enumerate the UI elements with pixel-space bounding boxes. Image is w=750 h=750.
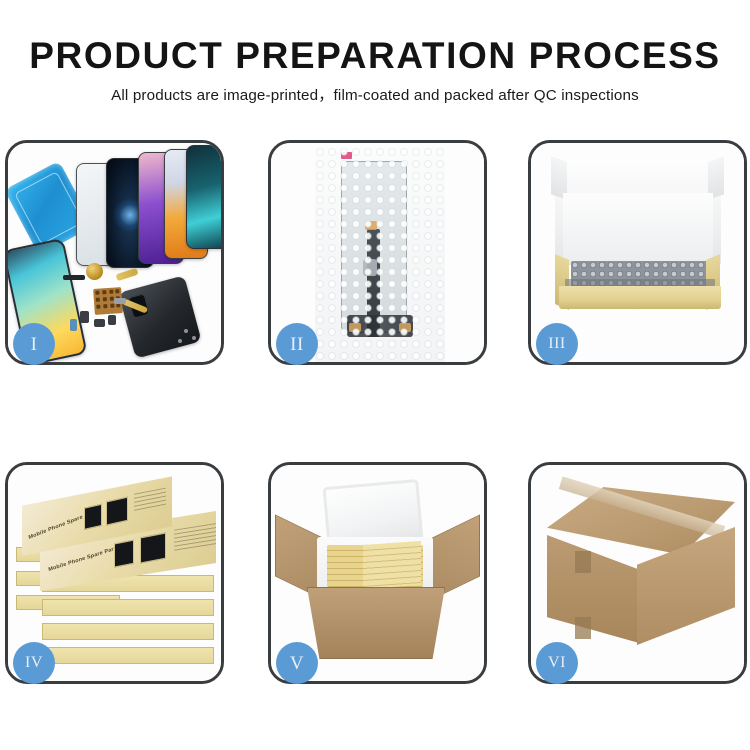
- gold-connector-icon: [349, 323, 361, 332]
- gold-connector-icon: [365, 221, 377, 230]
- step-badge-5: V: [276, 642, 318, 684]
- flex-cable-icon: [115, 268, 138, 281]
- kraft-tray-front-icon: [559, 286, 721, 309]
- lcd-screen-icon: [341, 161, 407, 333]
- step-badge-4: IV: [13, 642, 55, 684]
- page-subtitle: All products are image-printed，film-coat…: [0, 85, 750, 107]
- screw-icon: [184, 329, 188, 333]
- box-product-image: [114, 540, 134, 568]
- product-preparation-page: PRODUCT PREPARATION PROCESS All products…: [0, 0, 750, 750]
- driver-ic-icon: [363, 259, 377, 276]
- box-product-image: [84, 504, 102, 530]
- yellow-boxes-stack-icon: [363, 541, 421, 589]
- kraft-box-side: [42, 647, 214, 664]
- phone-back-housing-icon: [118, 275, 201, 358]
- screw-icon: [178, 339, 182, 343]
- step-badge-2: II: [276, 323, 318, 365]
- screw-icon: [192, 336, 196, 340]
- kraft-box-side: [42, 599, 214, 616]
- page-title: PRODUCT PREPARATION PROCESS: [0, 34, 750, 78]
- step-badge-6: VI: [536, 642, 578, 684]
- box-spec-text-lines: [134, 488, 166, 514]
- pink-label-icon: [341, 152, 352, 159]
- earpiece-speaker-icon: [63, 275, 85, 280]
- box-product-image: [106, 497, 128, 526]
- battery-connector-icon: [70, 319, 77, 331]
- screen-flex-cable-icon: [367, 229, 380, 337]
- small-part-icon: [94, 319, 105, 327]
- bubble-wrap-bag-icon: [315, 147, 445, 362]
- teal-screen-phone-icon: [186, 145, 221, 249]
- box-product-image: [140, 533, 166, 564]
- process-step-card-1[interactable]: I: [5, 140, 224, 365]
- small-part-icon: [108, 315, 116, 325]
- process-step-card-3[interactable]: III: [528, 140, 747, 365]
- screen-connector-board-icon: [347, 315, 413, 337]
- step-badge-1: I: [13, 323, 55, 365]
- step-badge-3: III: [536, 323, 578, 365]
- process-step-grid: I II: [5, 140, 745, 685]
- carton-front-face-icon: [547, 535, 639, 643]
- cardboard-carton-icon: [307, 587, 445, 659]
- box-spec-text-lines: [174, 523, 216, 552]
- process-step-card-6[interactable]: VI: [528, 462, 747, 684]
- carton-seal-mark-icon: [575, 617, 591, 639]
- process-step-card-4[interactable]: Mobile Phone Spare Parts Mobile Phone Sp…: [5, 462, 224, 684]
- kraft-box-side: [42, 623, 214, 640]
- gold-connector-icon: [399, 323, 411, 332]
- box-brand-label: Mobile Phone Spare Parts: [48, 545, 119, 573]
- carton-seal-mark-icon: [575, 551, 591, 573]
- vibration-motor-icon: [86, 263, 103, 280]
- white-foam-liner-icon: [563, 193, 713, 263]
- process-step-card-5[interactable]: V: [268, 462, 487, 684]
- process-step-card-2[interactable]: II: [268, 140, 487, 365]
- small-part-icon: [80, 311, 89, 323]
- page-header: PRODUCT PREPARATION PROCESS All products…: [0, 0, 750, 125]
- sim-tray-icon: [114, 298, 126, 304]
